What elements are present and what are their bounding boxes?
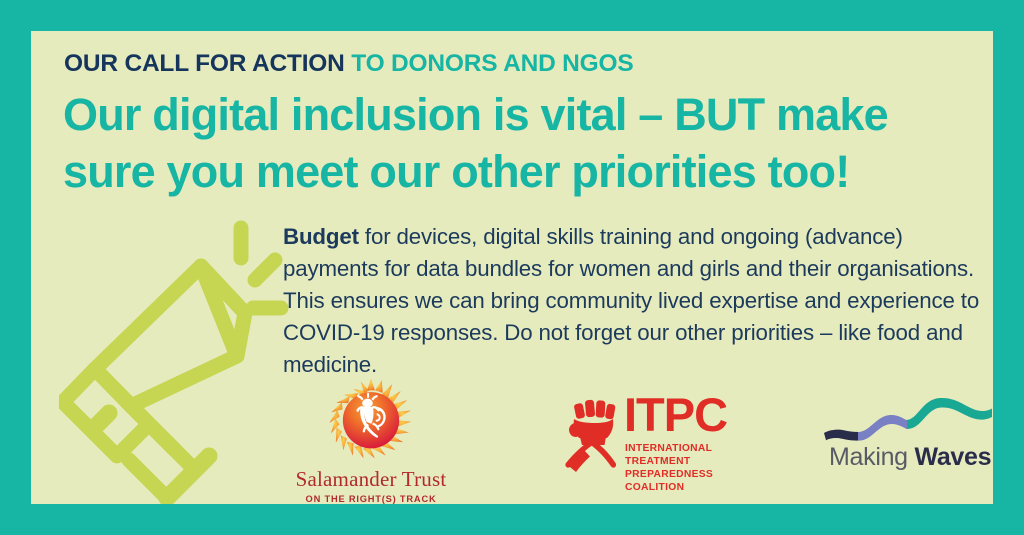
sun-salamander-emblem-icon <box>327 378 415 466</box>
salamander-trust-tagline: ON THE RIGHT(S) TRACK <box>281 494 461 504</box>
wave-graphic-icon <box>818 393 993 445</box>
itpc-acronym: ITPC <box>624 391 727 438</box>
logo-salamander-trust: Salamander Trust ON THE RIGHT(S) TRACK <box>281 378 461 504</box>
salamander-trust-name: Salamander Trust <box>281 467 461 492</box>
logo-row: Salamander Trust ON THE RIGHT(S) TRACK <box>31 31 993 504</box>
poster-inner-panel: OUR CALL FOR ACTION TO DONORS AND NGOS O… <box>31 31 993 504</box>
poster-card: OUR CALL FOR ACTION TO DONORS AND NGOS O… <box>0 0 1024 535</box>
fist-ribbon-icon <box>559 393 621 473</box>
logo-itpc: ITPC INTERNATIONAL TREATMENT PREPAREDNES… <box>524 391 754 481</box>
itpc-subtitle: INTERNATIONAL TREATMENT PREPAREDNESS COA… <box>625 443 754 494</box>
logo-making-waves: Making Waves <box>789 393 989 483</box>
making-waves-wordmark: Making Waves <box>829 443 991 472</box>
making-waves-word-light: Making <box>829 443 908 471</box>
making-waves-word-bold: Waves <box>914 443 991 471</box>
itpc-subtitle-line-2: PREPAREDNESS COALITION <box>625 469 754 495</box>
itpc-subtitle-line-1: INTERNATIONAL TREATMENT <box>625 443 754 469</box>
